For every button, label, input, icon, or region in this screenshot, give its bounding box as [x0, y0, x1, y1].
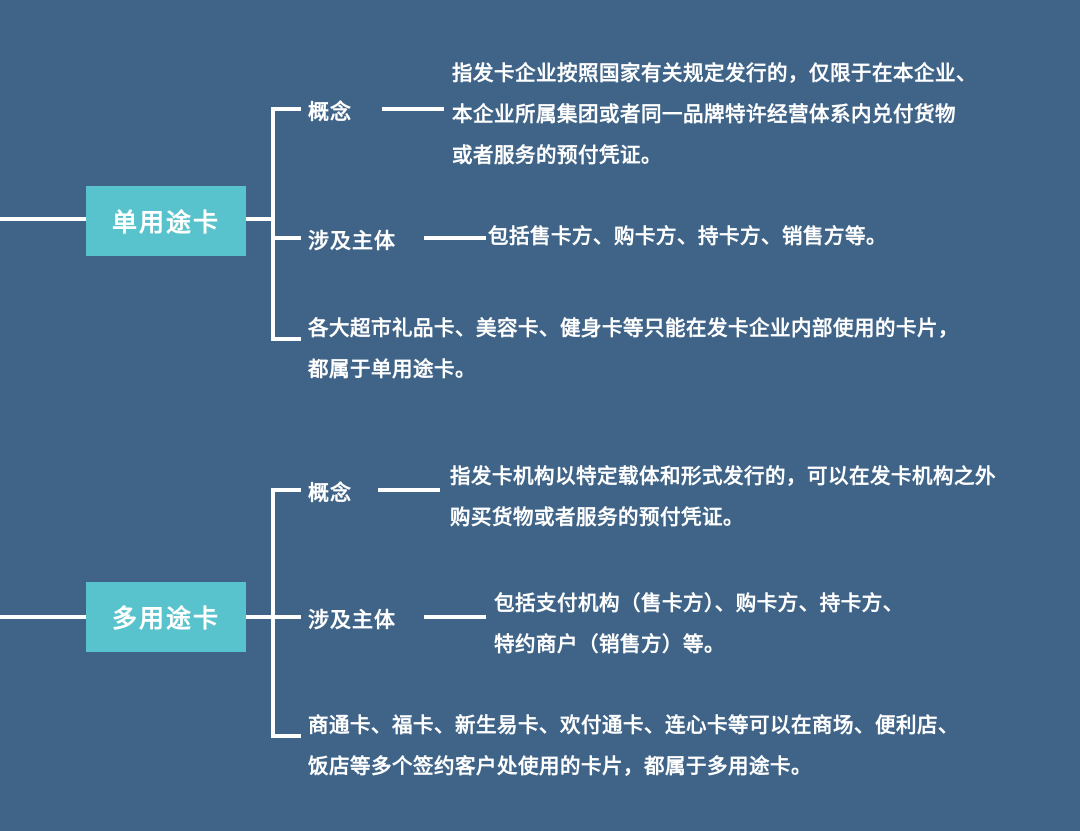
branch-label-subjects-multi: 涉及主体	[308, 604, 396, 634]
branch-text-examples-multi: 商通卡、福卡、新生易卡、欢付通卡、连心卡等可以在商场、便利店、 饭店等多个签约客…	[308, 705, 1063, 787]
branch-stub-1-3	[271, 337, 301, 341]
branch-dash-1-1	[382, 107, 444, 111]
trunk-line-branch-1	[0, 217, 86, 221]
diagram-canvas: 单用途卡 概念 指发卡企业按照国家有关规定发行的，仅限于在本企业、 本企业所属集…	[0, 0, 1080, 831]
branch-label-concept-multi: 概念	[308, 477, 352, 507]
branch-text-subjects-single: 包括售卡方、购卡方、持卡方、销售方等。	[488, 216, 1048, 257]
node-label: 多用途卡	[112, 599, 220, 635]
branch-text-concept-multi: 指发卡机构以特定载体和形式发行的，可以在发卡机构之外 购买货物或者服务的预付凭证…	[450, 456, 1060, 538]
bracket-spine-branch-2	[271, 488, 275, 738]
branch-dash-2-1	[378, 488, 440, 492]
bracket-spine-branch-1	[271, 107, 275, 341]
branch-text-subjects-multi: 包括支付机构（售卡方）、购卡方、持卡方、 特约商户（销售方）等。	[494, 583, 1054, 665]
branch-dash-1-2	[424, 236, 486, 240]
branch-stub-2-1	[271, 488, 301, 492]
branch-stub-1-1	[271, 107, 301, 111]
branch-dash-2-2	[424, 615, 486, 619]
node-box-single-use-card[interactable]: 单用途卡	[86, 186, 246, 256]
branch-label-concept-single: 概念	[308, 96, 352, 126]
node-box-multi-use-card[interactable]: 多用途卡	[86, 582, 246, 652]
node-label: 单用途卡	[112, 203, 220, 239]
trunk-line-branch-2	[0, 615, 86, 619]
branch-label-subjects-single: 涉及主体	[308, 225, 396, 255]
branch-text-concept-single: 指发卡企业按照国家有关规定发行的，仅限于在本企业、 本企业所属集团或者同一品牌特…	[452, 53, 1052, 176]
branch-stub-2-3	[271, 734, 301, 738]
branch-text-examples-single: 各大超市礼品卡、美容卡、健身卡等只能在发卡企业内部使用的卡片， 都属于单用途卡。	[308, 308, 1058, 390]
branch-stub-2-2	[271, 615, 301, 619]
branch-stub-1-2	[271, 236, 301, 240]
